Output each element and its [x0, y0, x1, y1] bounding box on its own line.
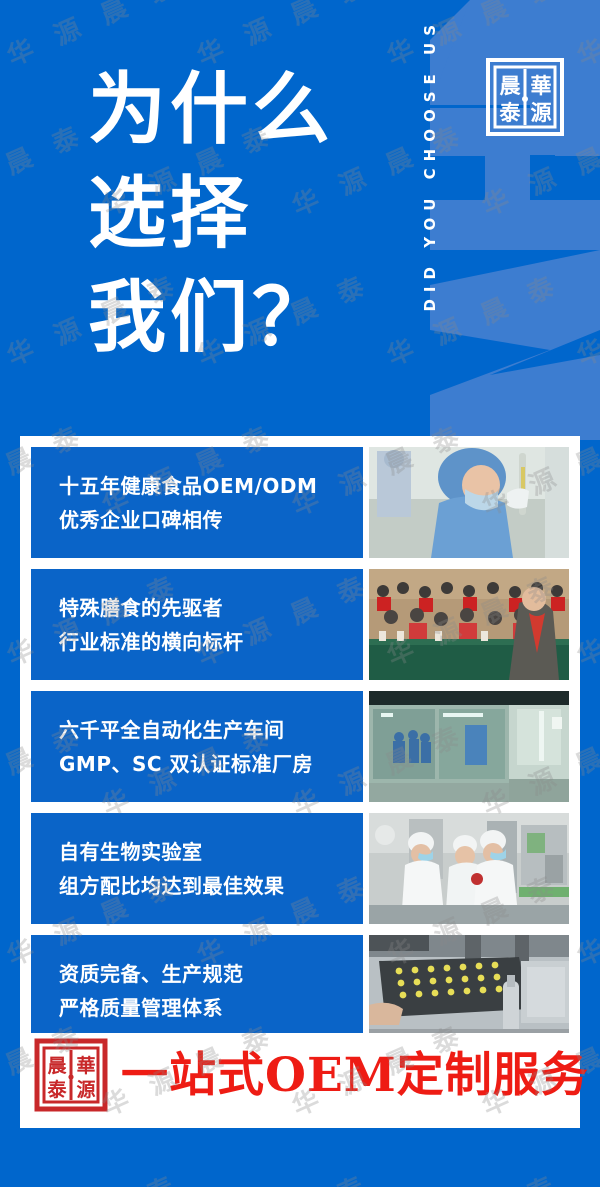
poster-canvas: 为什么 选择 我们？ DID YOU CHOOSE US 晨 華 泰 源 [0, 0, 600, 1187]
feature-card[interactable]: 六千平全自动化生产车间 GMP、SC 双认证标准厂房 [31, 691, 569, 802]
feature-card[interactable]: 资质完备、生产规范 严格质量管理体系 [31, 935, 569, 1046]
feature-line: 组方配比均达到最佳效果 [59, 869, 363, 903]
feature-line: 行业标准的横向标杆 [59, 625, 363, 659]
feature-card-text: 六千平全自动化生产车间 GMP、SC 双认证标准厂房 [31, 691, 363, 802]
svg-text:華: 華 [531, 73, 552, 98]
feature-photo-cleanroom-corridor [369, 691, 569, 802]
company-seal-red-icon: 晨 華 泰 源 [33, 1037, 109, 1113]
feature-card[interactable]: 特殊膳食的先驱者 行业标准的横向标杆 [31, 569, 569, 680]
svg-text:晨: 晨 [500, 73, 522, 98]
watermark-text: 华 源 晨 泰 [571, 1164, 600, 1187]
features-panel: 十五年健康食品OEM/ODM 优秀企业口碑相传 [20, 436, 580, 1128]
page-title: 为什么 选择 我们？ [88, 58, 334, 370]
footer-slogan-bar: 晨 華 泰 源 一站式OEM定制服务 [31, 1033, 569, 1117]
feature-card-text: 特殊膳食的先驱者 行业标准的横向标杆 [31, 569, 363, 680]
feature-line: 严格质量管理体系 [59, 991, 363, 1025]
feature-line: 资质完备、生产规范 [59, 957, 363, 991]
svg-text:華: 華 [76, 1054, 95, 1077]
feature-photo-conference-audience [369, 569, 569, 680]
title-line-2: 选择 [88, 162, 334, 266]
feature-line: 十五年健康食品OEM/ODM [59, 469, 363, 503]
watermark-text: 华 源 晨 泰 [381, 1164, 567, 1187]
feature-line: 六千平全自动化生产车间 [59, 713, 363, 747]
vertical-tagline-text: DID YOU CHOOSE US [421, 18, 439, 312]
feature-line: GMP、SC 双认证标准厂房 [59, 747, 363, 781]
title-line-1: 为什么 [88, 58, 334, 162]
vertical-tagline: DID YOU CHOOSE US [418, 18, 442, 408]
feature-card-list: 十五年健康食品OEM/ODM 优秀企业口碑相传 [31, 447, 569, 1046]
feature-card-text: 资质完备、生产规范 严格质量管理体系 [31, 935, 363, 1046]
feature-line: 自有生物实验室 [59, 835, 363, 869]
title-line-3: 我们？ [88, 266, 334, 370]
feature-card-text: 十五年健康食品OEM/ODM 优秀企业口碑相传 [31, 447, 363, 558]
footer-slogan-text: 一站式OEM定制服务 [121, 1052, 589, 1099]
svg-text:泰: 泰 [46, 1078, 67, 1101]
watermark-text: 华 源 晨 泰 [191, 1164, 377, 1187]
feature-line: 特殊膳食的先驱者 [59, 591, 363, 625]
company-seal-white-icon: 晨 華 泰 源 [483, 55, 567, 139]
svg-text:源: 源 [531, 100, 552, 125]
feature-photo-packing-machine [369, 935, 569, 1046]
svg-text:泰: 泰 [499, 100, 522, 125]
feature-photo-lab-staff [369, 813, 569, 924]
watermark-text: 华 源 晨 泰 [1, 1164, 187, 1187]
svg-text:源: 源 [76, 1078, 95, 1101]
svg-text:晨: 晨 [47, 1055, 67, 1077]
feature-card[interactable]: 十五年健康食品OEM/ODM 优秀企业口碑相传 [31, 447, 569, 558]
poster-header: 为什么 选择 我们？ DID YOU CHOOSE US 晨 華 泰 源 [0, 0, 600, 436]
feature-card[interactable]: 自有生物实验室 组方配比均达到最佳效果 [31, 813, 569, 924]
feature-line: 优秀企业口碑相传 [59, 503, 363, 537]
feature-card-text: 自有生物实验室 组方配比均达到最佳效果 [31, 813, 363, 924]
feature-photo-lab-technician [369, 447, 569, 558]
